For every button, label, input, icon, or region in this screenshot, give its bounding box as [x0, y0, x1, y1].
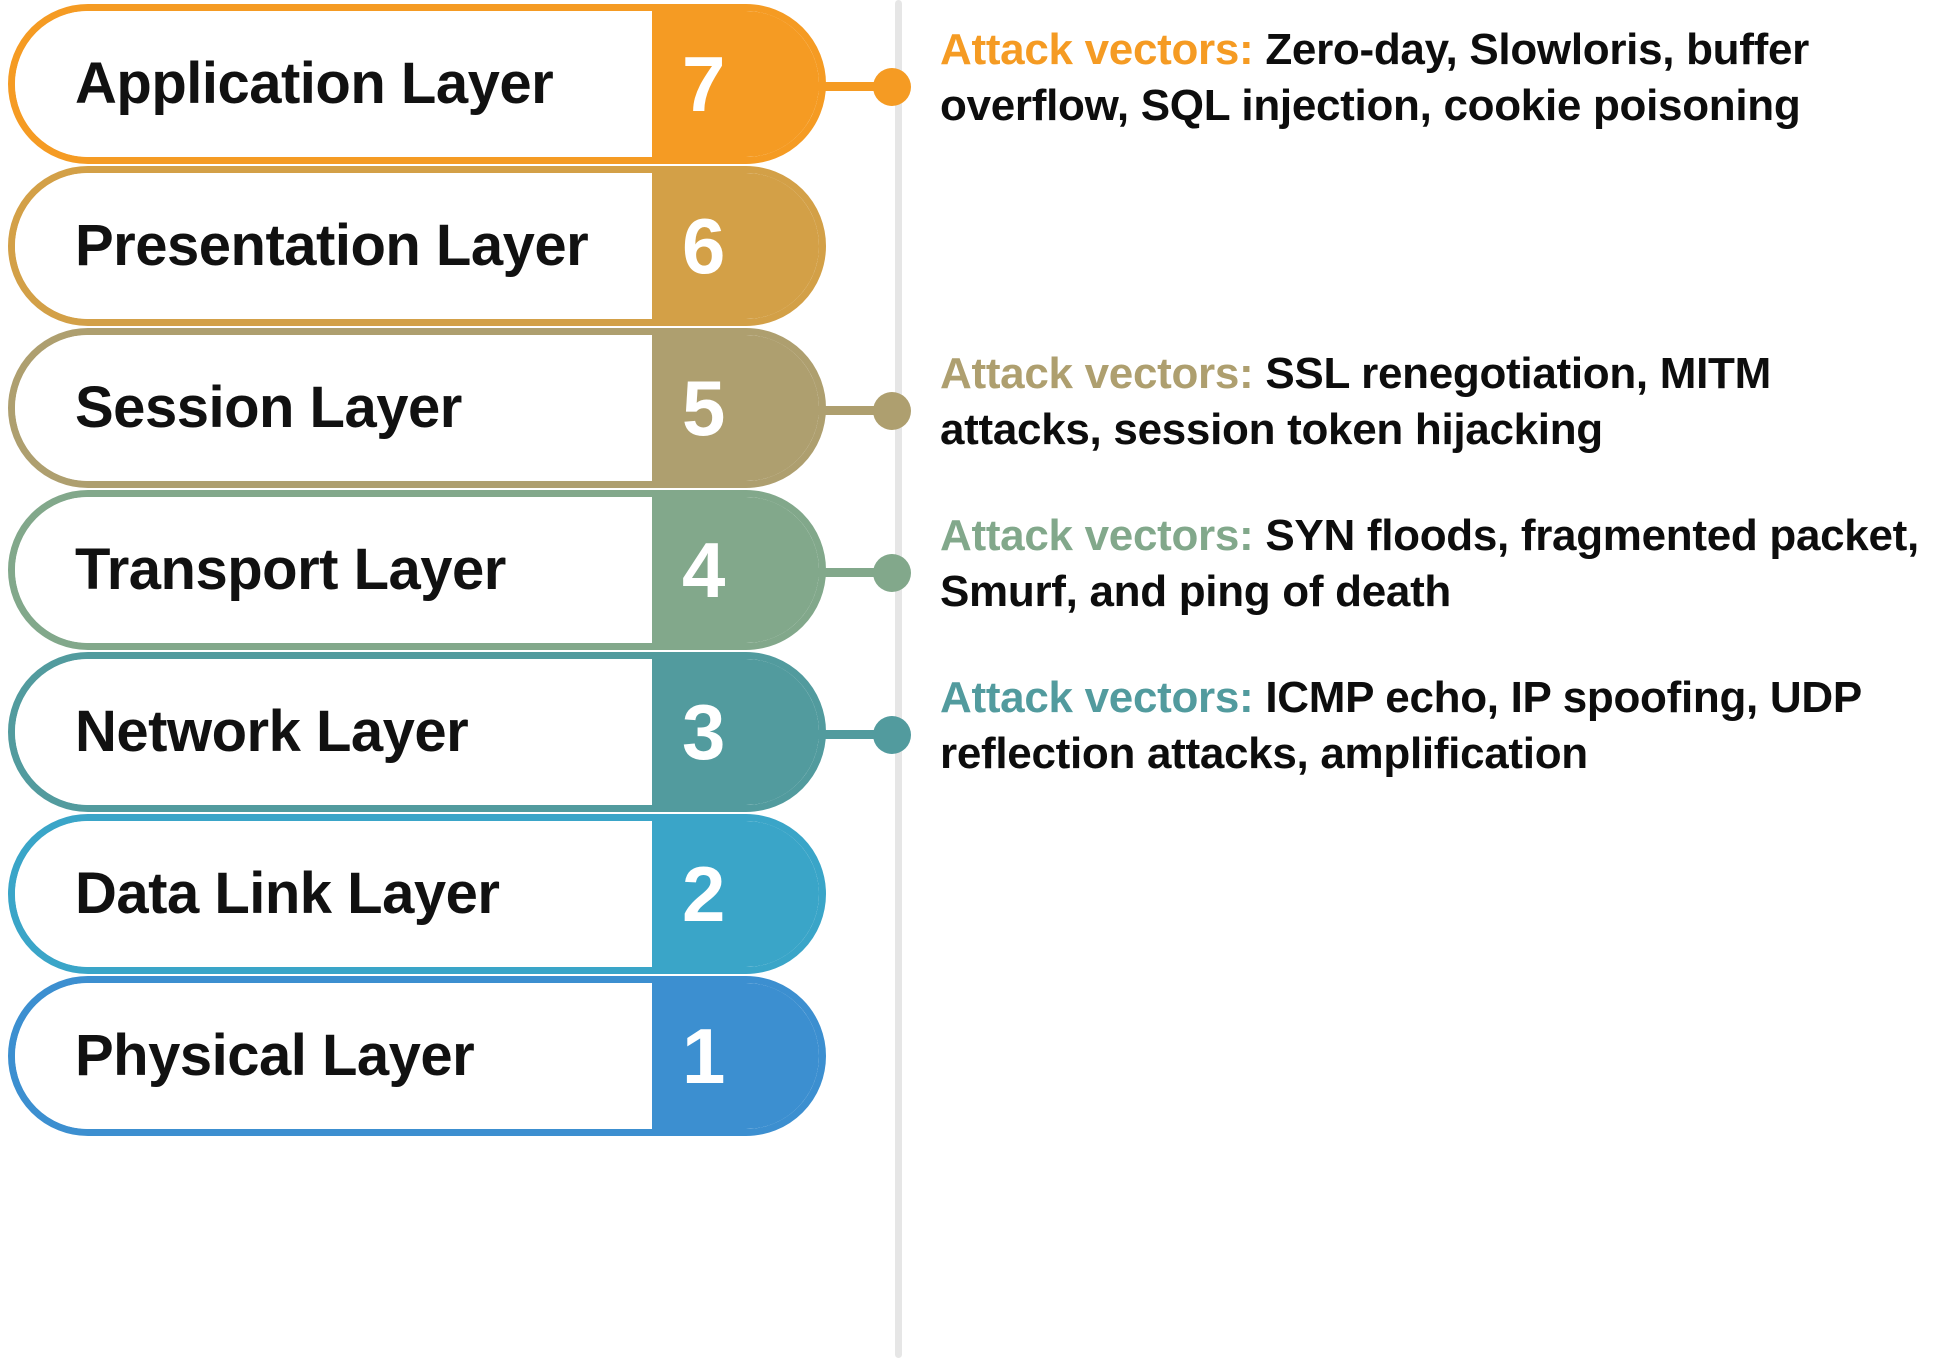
layer-number: 2	[682, 855, 725, 933]
osi-layer-row: Physical Layer1	[0, 976, 1939, 1136]
layer-number: 5	[682, 369, 725, 447]
layer-number-zone: 2	[652, 821, 819, 967]
connector-dot	[873, 392, 911, 430]
layer-number-zone: 4	[652, 497, 819, 643]
layer-number: 4	[682, 531, 725, 609]
attack-vectors-label: Attack vectors:	[940, 25, 1253, 74]
layer-name-zone: Network Layer	[15, 659, 652, 805]
layer-pill-1[interactable]: Physical Layer1	[8, 976, 826, 1136]
layer-name-label: Presentation Layer	[75, 217, 588, 275]
layer-name-label: Network Layer	[75, 703, 468, 761]
layer-pill-4[interactable]: Transport Layer4	[8, 490, 826, 650]
layer-number: 3	[682, 693, 725, 771]
connector-dot	[873, 716, 911, 754]
layer-number-zone: 5	[652, 335, 819, 481]
osi-layer-row: Data Link Layer2	[0, 814, 1939, 974]
layer-name-zone: Session Layer	[15, 335, 652, 481]
connector-dot	[873, 554, 911, 592]
layer-name-zone: Presentation Layer	[15, 173, 652, 319]
attack-vectors-label: Attack vectors:	[940, 511, 1253, 560]
layer-name-zone: Data Link Layer	[15, 821, 652, 967]
layer-name-label: Session Layer	[75, 379, 462, 437]
osi-attack-vector-diagram: Application Layer7Presentation Layer6Ses…	[0, 0, 1939, 1358]
layer-number-zone: 7	[652, 11, 819, 157]
layer-name-label: Data Link Layer	[75, 865, 499, 923]
osi-layer-row: Presentation Layer6	[0, 166, 1939, 326]
attack-vector-annotation-4: Attack vectors: SYN floods, fragmented p…	[940, 508, 1930, 621]
layer-name-zone: Application Layer	[15, 11, 652, 157]
layer-name-label: Physical Layer	[75, 1027, 474, 1085]
layer-name-label: Transport Layer	[75, 541, 506, 599]
layer-number-zone: 3	[652, 659, 819, 805]
layer-number: 6	[682, 207, 725, 285]
layer-pill-5[interactable]: Session Layer5	[8, 328, 826, 488]
attack-vector-annotation-7: Attack vectors: Zero-day, Slowloris, buf…	[940, 22, 1930, 135]
layer-number: 1	[682, 1017, 725, 1095]
attack-vectors-label: Attack vectors:	[940, 349, 1253, 398]
attack-vectors-label: Attack vectors:	[940, 673, 1253, 722]
layer-pill-6[interactable]: Presentation Layer6	[8, 166, 826, 326]
layer-name-zone: Transport Layer	[15, 497, 652, 643]
attack-vector-annotation-3: Attack vectors: ICMP echo, IP spoofing, …	[940, 670, 1930, 783]
layer-pill-7[interactable]: Application Layer7	[8, 4, 826, 164]
layer-name-label: Application Layer	[75, 55, 553, 113]
layer-number: 7	[682, 45, 725, 123]
layer-number-zone: 1	[652, 983, 819, 1129]
layer-pill-2[interactable]: Data Link Layer2	[8, 814, 826, 974]
attack-vector-annotation-5: Attack vectors: SSL renegotiation, MITM …	[940, 346, 1930, 459]
connector-dot	[873, 68, 911, 106]
layer-name-zone: Physical Layer	[15, 983, 652, 1129]
layer-number-zone: 6	[652, 173, 819, 319]
layer-pill-3[interactable]: Network Layer3	[8, 652, 826, 812]
